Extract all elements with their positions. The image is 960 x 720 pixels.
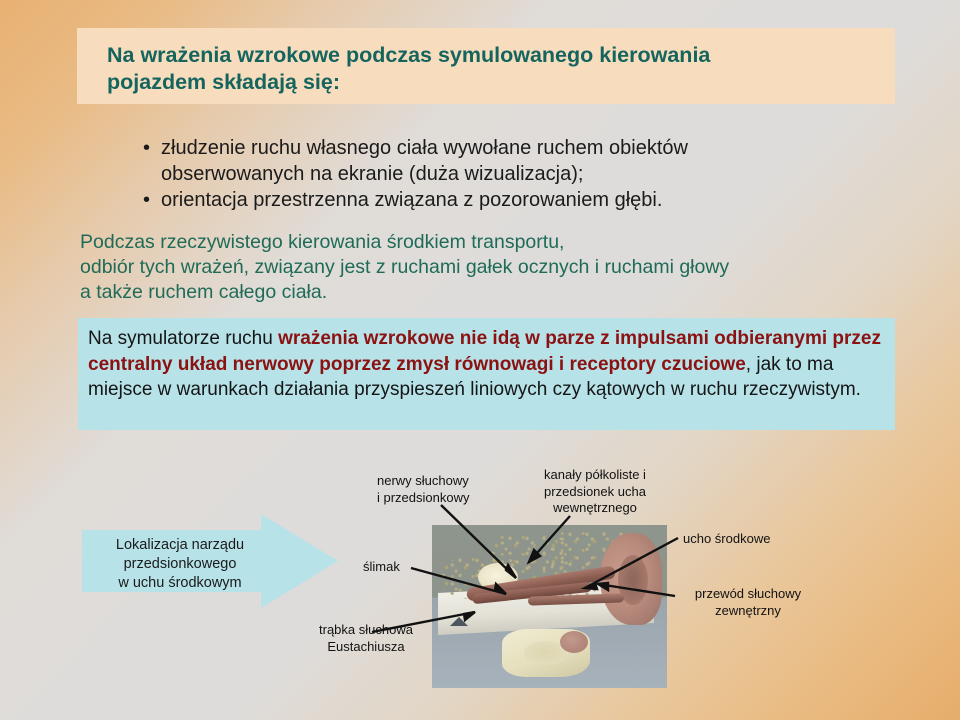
list-item: • złudzenie ruchu własnego ciała wywołan… xyxy=(143,135,883,187)
highlight-paragraph: Na symulatorze ruchu wrażenia wzrokowe n… xyxy=(88,326,888,403)
fragment-soft-tissue xyxy=(560,631,588,653)
caption-nerwy: nerwy słuchowy i przedsionkowy xyxy=(377,473,497,506)
ear-anatomy-photo xyxy=(432,525,667,688)
caption-przewod: przewód słuchowy zewnętrzny xyxy=(678,586,818,619)
highlight-lead: Na symulatorze ruchu xyxy=(88,328,278,349)
bullet-list: • złudzenie ruchu własnego ciała wywołan… xyxy=(143,135,883,213)
bullet-text: orientacja przestrzenna związana z pozor… xyxy=(161,187,883,213)
callout-arrow: Lokalizacja narządu przedsionkowego w uc… xyxy=(82,514,338,608)
list-item: • orientacja przestrzenna związana z poz… xyxy=(143,187,883,213)
green-paragraph: Podczas rzeczywistego kierowania środkie… xyxy=(80,230,910,305)
caption-trabka: trąbka słuchowa Eustachiusza xyxy=(303,622,429,655)
bullet-marker-icon: • xyxy=(143,135,161,161)
caption-slimak: ślimak xyxy=(363,559,427,576)
base-triangle-mark-icon xyxy=(450,617,468,626)
bullet-marker-icon: • xyxy=(143,187,161,213)
callout-arrow-label: Lokalizacja narządu przedsionkowego w uc… xyxy=(100,536,260,593)
caption-kanaly: kanały półkoliste i przedsionek ucha wew… xyxy=(525,467,665,517)
highlight-panel: Na symulatorze ruchu wrażenia wzrokowe n… xyxy=(78,318,895,430)
slide-canvas: Na wrażenia wzrokowe podczas symulowaneg… xyxy=(0,0,960,720)
caption-ucho-srodkowe: ucho środkowe xyxy=(683,531,803,548)
page-title: Na wrażenia wzrokowe podczas symulowaneg… xyxy=(107,42,877,96)
title-banner: Na wrażenia wzrokowe podczas symulowaneg… xyxy=(77,28,895,104)
bullet-text: złudzenie ruchu własnego ciała wywołane … xyxy=(161,135,883,187)
